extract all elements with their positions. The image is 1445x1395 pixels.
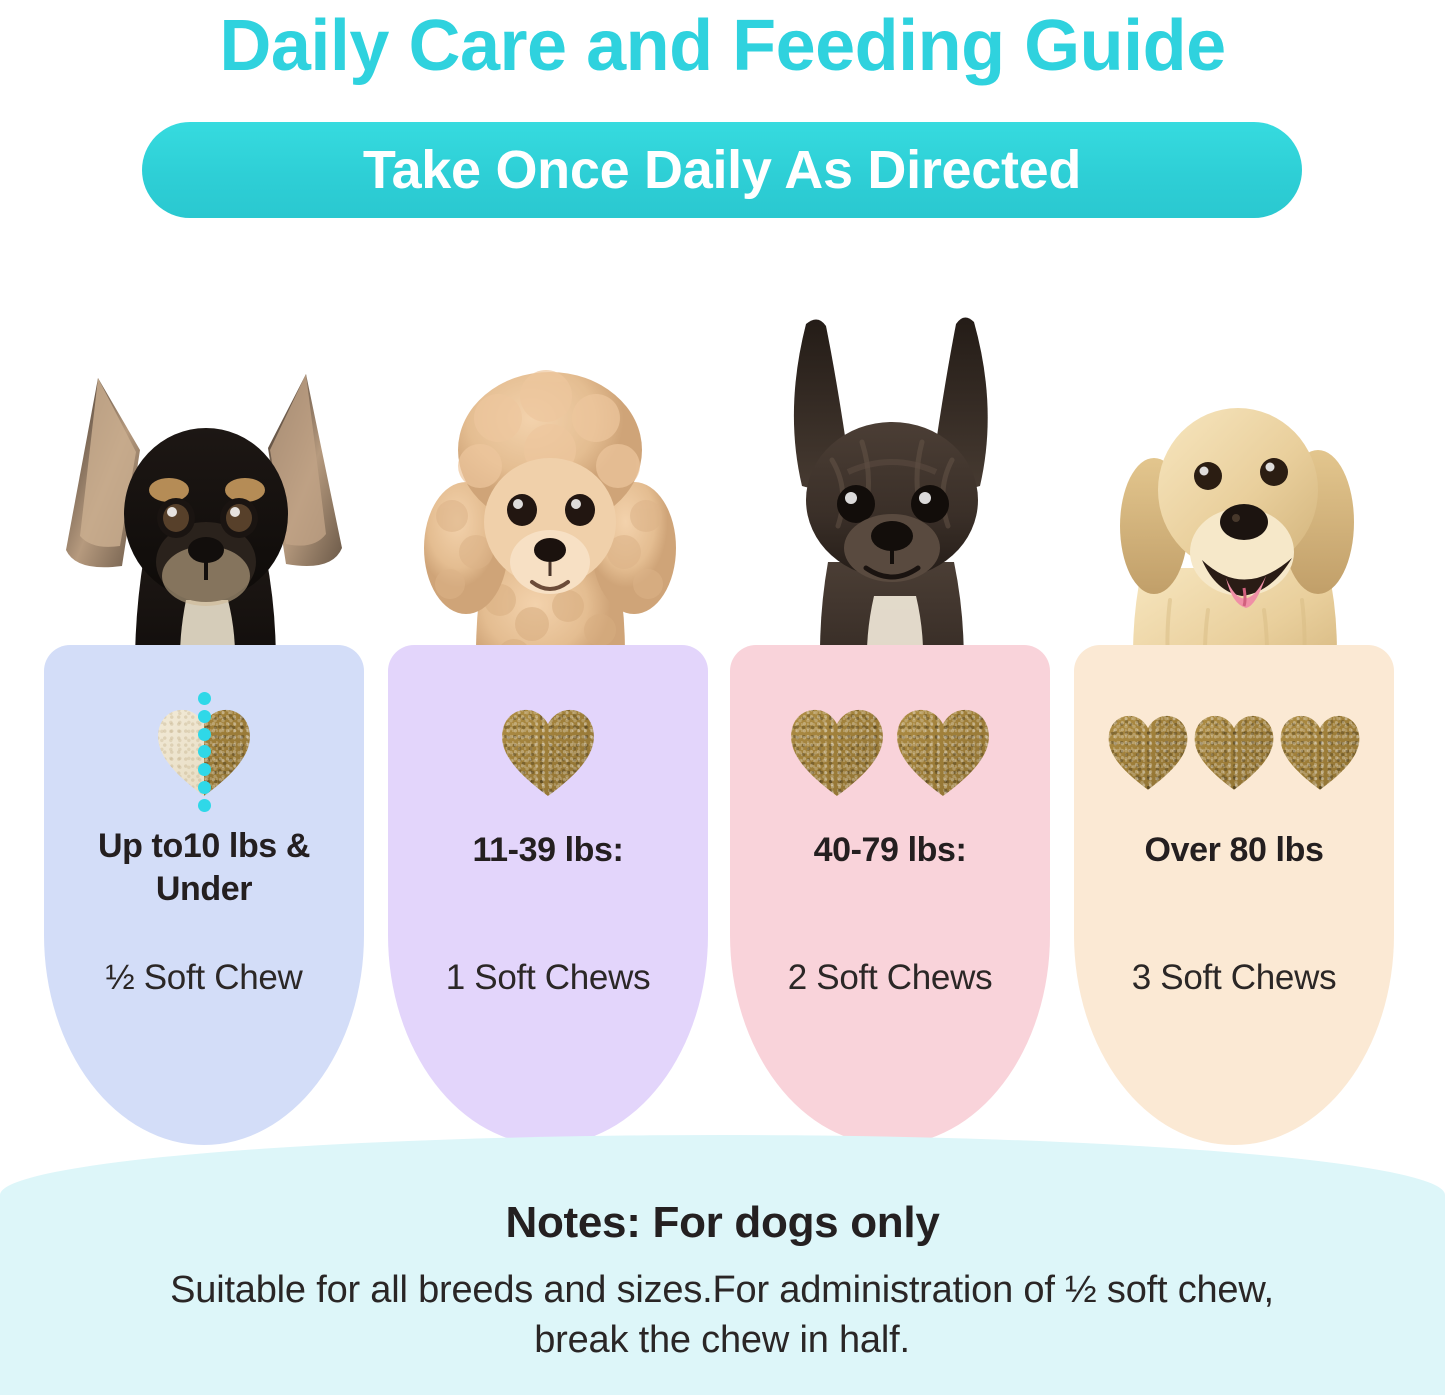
chew-icon	[500, 708, 596, 796]
weight-range-label: Over 80 lbs	[1086, 829, 1382, 872]
dose-label: 1 Soft Chews	[394, 957, 702, 999]
dose-label: 2 Soft Chews	[736, 957, 1044, 999]
chew-icon	[1193, 714, 1275, 790]
weight-range-label: 40-79 lbs:	[742, 829, 1038, 872]
chew-icons	[1074, 687, 1394, 817]
weight-range-label: 11-39 lbs:	[400, 829, 696, 872]
chew-icon	[1107, 714, 1189, 790]
chew-icon	[1279, 714, 1361, 790]
dog-photo-french-bulldog	[722, 300, 1062, 700]
dosage-card: 40-79 lbs: 2 Soft Chews	[730, 645, 1050, 1145]
chew-icons	[44, 687, 364, 817]
directions-banner-label: Take Once Daily As Directed	[363, 141, 1081, 199]
chew-icon	[789, 708, 885, 796]
dog-photo-golden-retriever	[1066, 300, 1406, 700]
notes-panel: Notes: For dogs only Suitable for all br…	[0, 1135, 1445, 1395]
dosage-column: 40-79 lbs: 2 Soft Chews	[722, 300, 1062, 1160]
dotted-break-line-icon	[197, 692, 211, 812]
dosage-column: 11-39 lbs: 1 Soft Chews	[380, 300, 720, 1160]
page-title: Daily Care and Feeding Guide	[0, 2, 1445, 90]
chew-icon	[895, 708, 991, 796]
chew-icons	[730, 687, 1050, 817]
notes-body: Suitable for all breeds and sizes.For ad…	[122, 1265, 1322, 1365]
header: Daily Care and Feeding Guide Take Once D…	[0, 0, 1445, 240]
weight-range-label: Up to10 lbs & Under	[56, 825, 352, 911]
directions-banner: Take Once Daily As Directed	[142, 122, 1302, 218]
dosage-card: 11-39 lbs: 1 Soft Chews	[388, 645, 708, 1145]
dosage-column: Over 80 lbs 3 Soft Chews	[1066, 300, 1406, 1160]
dog-photo-poodle	[380, 300, 720, 700]
dosage-columns: Up to10 lbs & Under ½ Soft Chew	[0, 300, 1445, 1160]
dose-label: ½ Soft Chew	[50, 957, 358, 999]
dose-label: 3 Soft Chews	[1080, 957, 1388, 999]
chew-half-icon	[156, 708, 252, 796]
dosage-card: Up to10 lbs & Under ½ Soft Chew	[44, 645, 364, 1145]
dog-photo-chihuahua	[36, 300, 376, 700]
notes-title: Notes: For dogs only	[0, 1197, 1445, 1249]
chew-icons	[388, 687, 708, 817]
dosage-card: Over 80 lbs 3 Soft Chews	[1074, 645, 1394, 1145]
dosage-column: Up to10 lbs & Under ½ Soft Chew	[36, 300, 376, 1160]
